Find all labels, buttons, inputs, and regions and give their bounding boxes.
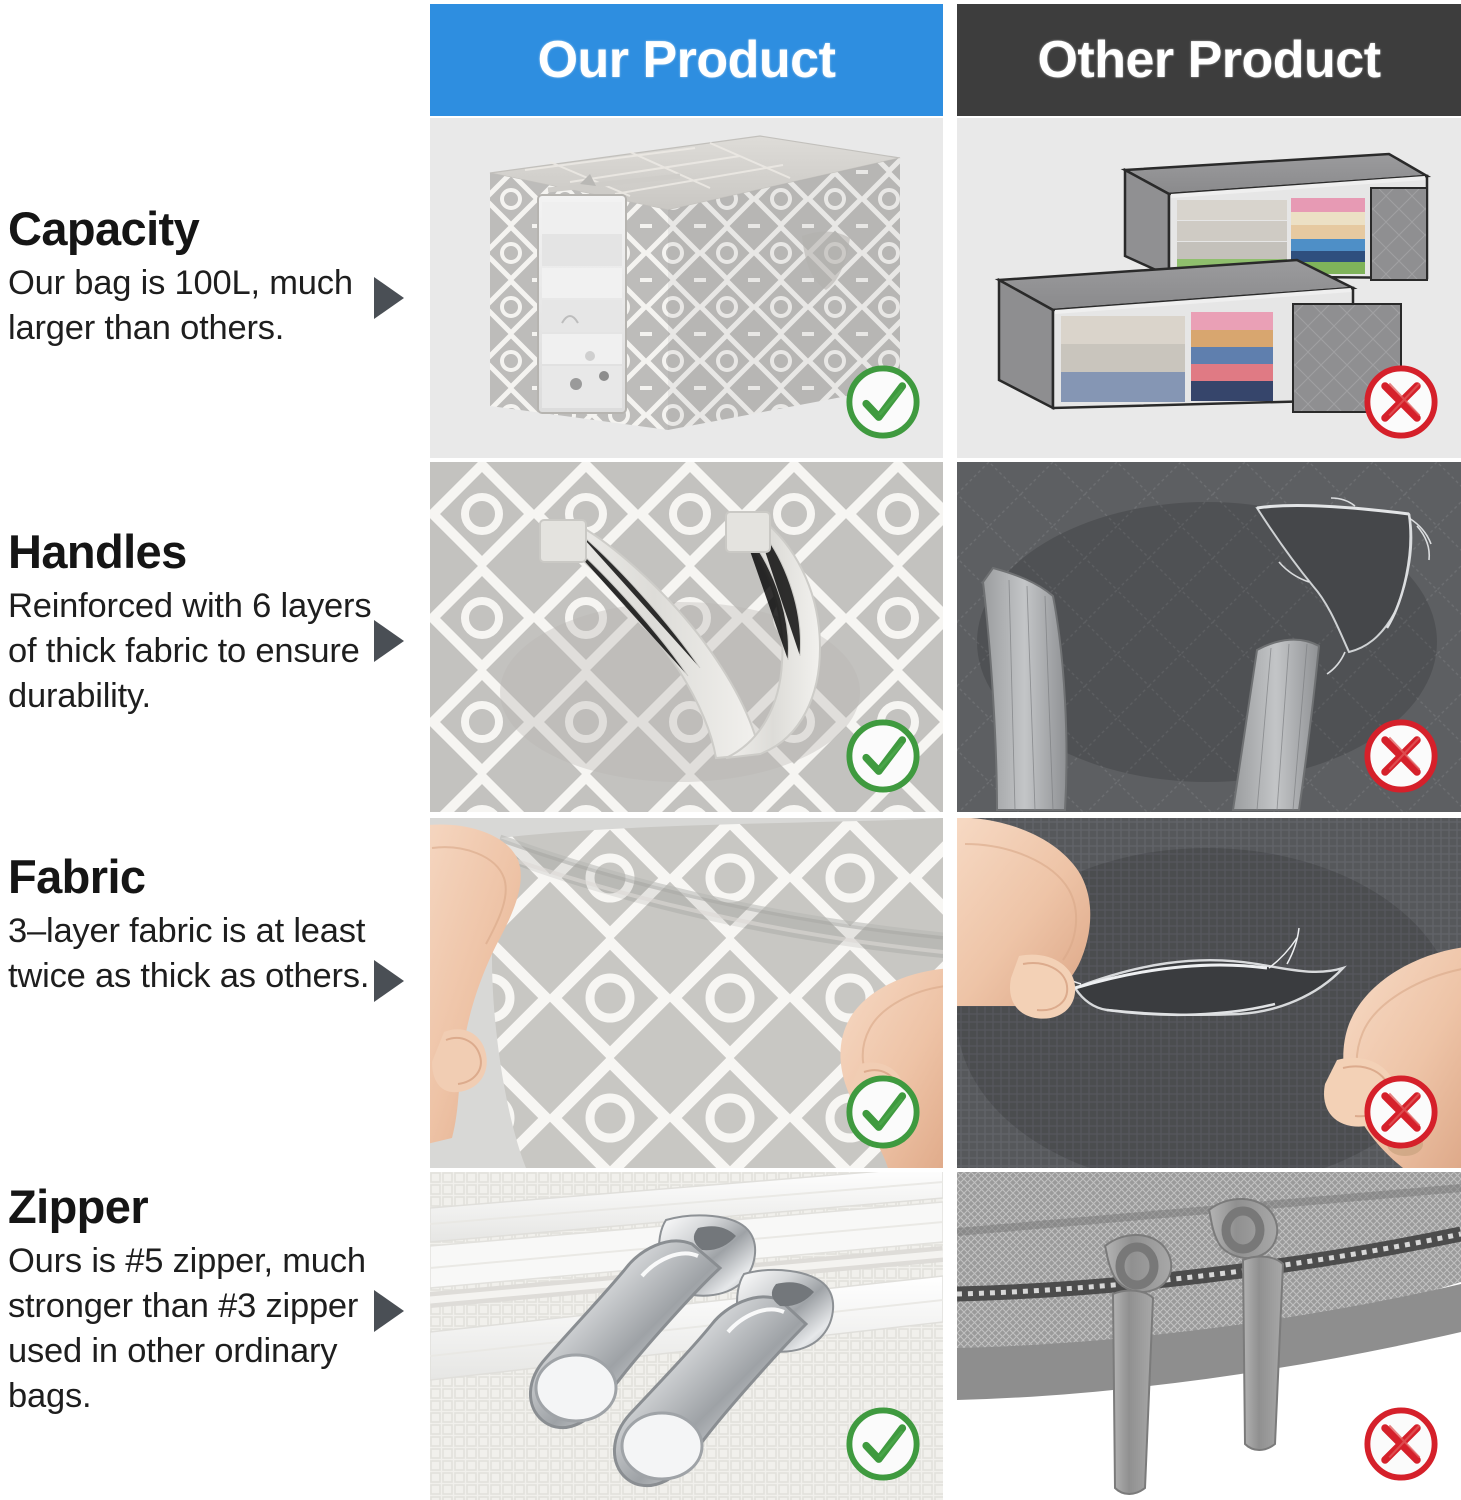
feature-description-capacity: Our bag is 100L, much larger than others… [8,261,380,351]
verdict-badge-good-fabric [841,1070,925,1154]
header-other-product-label: Other Product [1037,30,1380,90]
verdict-badge-good-zipper [841,1402,925,1486]
comparison-infographic: Our Product Other Product Capacity Our b… [0,0,1461,1500]
feature-description-zipper: Ours is #5 zipper, much stronger than #3… [8,1239,380,1418]
feature-title-capacity: Capacity [8,205,418,253]
photo-our-fabric [430,818,943,1168]
feature-block-fabric: Fabric 3–layer fabric is at least twice … [8,853,418,999]
verdict-badge-bad-handles [1359,714,1443,798]
verdict-badge-good-capacity [841,360,925,444]
header-our-product-label: Our Product [538,30,836,90]
feature-title-fabric: Fabric [8,853,418,901]
header-our-product: Our Product [430,4,943,116]
feature-block-capacity: Capacity Our bag is 100L, much larger th… [8,205,418,351]
photo-other-handles [957,462,1461,812]
verdict-badge-bad-fabric [1359,1070,1443,1154]
photo-other-fabric [957,818,1461,1168]
feature-block-handles: Handles Reinforced with 6 layers of thic… [8,528,418,719]
pointer-arrow-icon-fabric [374,960,404,1002]
photo-our-capacity [430,118,943,458]
verdict-badge-bad-zipper [1359,1402,1443,1486]
feature-title-handles: Handles [8,528,418,576]
pointer-arrow-icon-handles [374,620,404,662]
feature-description-fabric: 3–layer fabric is at least twice as thic… [8,909,380,999]
header-other-product: Other Product [957,4,1461,116]
verdict-badge-good-handles [841,714,925,798]
photo-our-zipper [430,1172,943,1500]
feature-block-zipper: Zipper Ours is #5 zipper, much stronger … [8,1183,418,1419]
verdict-badge-bad-capacity [1359,360,1443,444]
photo-our-handles [430,462,943,812]
photo-other-zipper [957,1172,1461,1500]
pointer-arrow-icon-capacity [374,277,404,319]
pointer-arrow-icon-zipper [374,1290,404,1332]
feature-description-handles: Reinforced with 6 layers of thick fabric… [8,584,380,719]
feature-title-zipper: Zipper [8,1183,418,1231]
photo-other-capacity [957,118,1461,458]
